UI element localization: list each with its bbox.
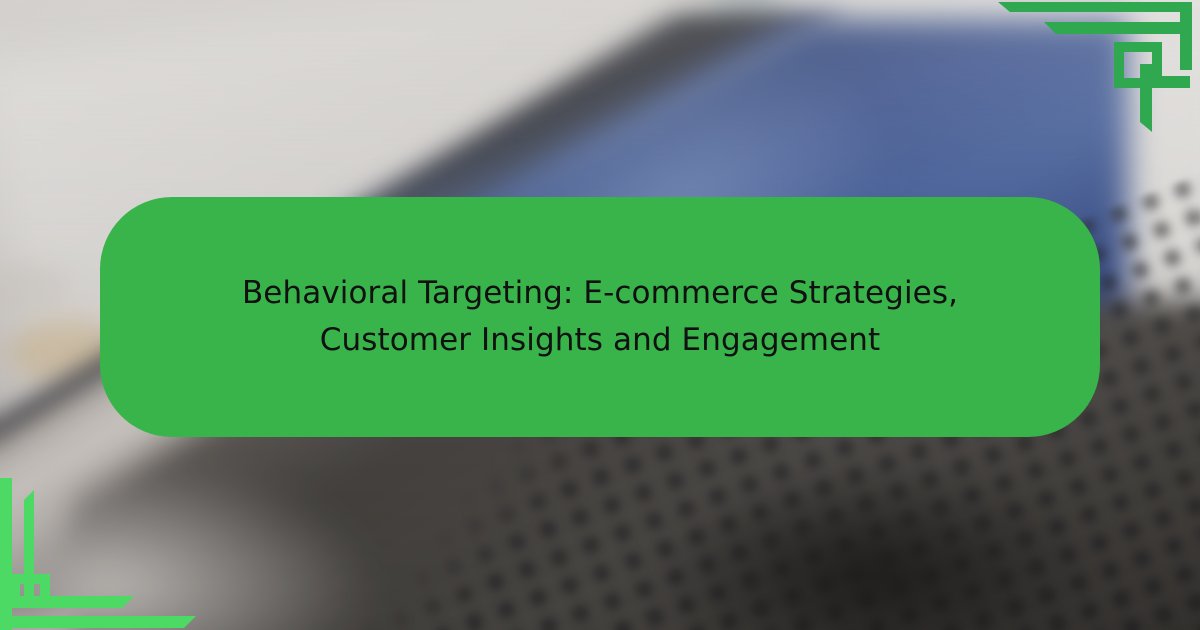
title-card: Behavioral Targeting: E-commerce Strateg… <box>100 197 1100 437</box>
page-title: Behavioral Targeting: E-commerce Strateg… <box>210 270 990 364</box>
corner-bracket-top-right-icon <box>984 0 1200 148</box>
social-card-canvas: Behavioral Targeting: E-commerce Strateg… <box>0 0 1200 630</box>
corner-bracket-bottom-left-icon <box>0 478 216 630</box>
